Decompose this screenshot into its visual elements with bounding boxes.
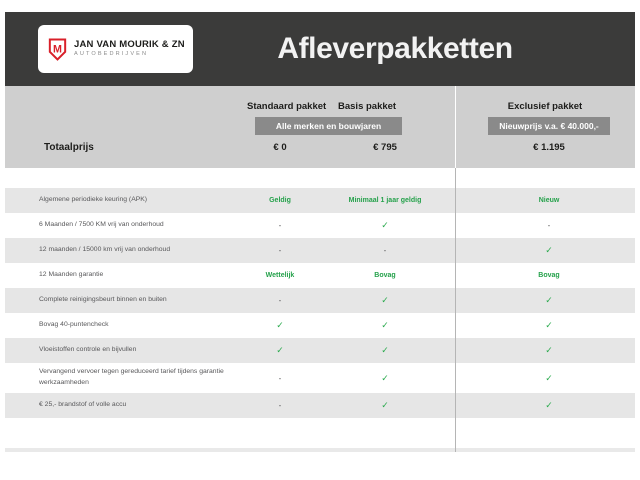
check-icon: ✓ (335, 373, 435, 384)
feature-value: Nieuw (488, 197, 610, 204)
check-icon: ✓ (240, 345, 320, 356)
total-price-label: Totaalprijs (44, 142, 94, 153)
table-row: Bovag 40-puntencheck✓✓✓ (5, 313, 635, 338)
not-included-dash: - (240, 401, 320, 410)
check-icon: ✓ (335, 320, 435, 331)
feature-label: 12 maanden / 15000 km vrij van onderhoud (39, 245, 239, 256)
feature-label: Algemene periodieke keuring (APK) (39, 195, 239, 206)
package-title-exclusief: Exclusief pakket (5, 101, 635, 112)
band-spacer (5, 168, 635, 188)
page-title: Afleverpakketten (5, 32, 635, 66)
table-row: Vloeistoffen controle en bijvullen✓✓✓ (5, 338, 635, 363)
feature-value: Bovag (335, 272, 435, 279)
page-footer-area (5, 418, 635, 452)
table-row: Algemene periodieke keuring (APK)GeldigM… (5, 188, 635, 213)
not-included-dash: - (240, 374, 320, 383)
feature-value: Geldig (240, 197, 320, 204)
feature-label: Vloeistoffen controle en bijvullen (39, 345, 239, 356)
table-row: Complete reinigingsbeurt binnen en buite… (5, 288, 635, 313)
check-icon: ✓ (335, 400, 435, 411)
table-group-divider (455, 188, 456, 418)
check-icon: ✓ (488, 245, 610, 256)
table-row: 12 maanden / 15000 km vrij van onderhoud… (5, 238, 635, 263)
spacer-divider (455, 168, 456, 188)
check-icon: ✓ (335, 295, 435, 306)
check-icon: ✓ (488, 320, 610, 331)
check-icon: ✓ (488, 373, 610, 384)
total-price-exclusief: € 1.195 (488, 142, 610, 153)
check-icon: ✓ (335, 345, 435, 356)
badge-nieuwprijs: Nieuwprijs v.a. € 40.000,- (488, 117, 610, 135)
feature-value: Minimaal 1 jaar geldig (335, 197, 435, 204)
badge-alle-merken-en-bouwjaren: Alle merken en bouwjaren (255, 117, 402, 135)
feature-value: Bovag (488, 272, 610, 279)
not-included-dash: - (335, 246, 435, 255)
check-icon: ✓ (240, 320, 320, 331)
table-row: 12 Maanden garantieWettelijkBovagBovag (5, 263, 635, 288)
page-header: M JAN VAN MOURIK & ZN AUTOBEDRIJVEN Afle… (5, 12, 635, 86)
delivery-packages-page: M JAN VAN MOURIK & ZN AUTOBEDRIJVEN Afle… (5, 12, 635, 468)
table-row: 6 Maanden / 7500 KM vrij van onderhoud-✓… (5, 213, 635, 238)
package-header-band: Standaard pakket Basis pakket Exclusief … (5, 86, 635, 168)
table-row: € 25,- brandstof of volle accu-✓✓ (5, 393, 635, 418)
not-included-dash: - (240, 296, 320, 305)
feature-label: Complete reinigingsbeurt binnen en buite… (39, 295, 239, 306)
check-icon: ✓ (488, 400, 610, 411)
feature-label: 6 Maanden / 7500 KM vrij van onderhoud (39, 220, 239, 231)
package-group-divider (455, 86, 456, 168)
feature-comparison-table: Algemene periodieke keuring (APK)GeldigM… (5, 188, 635, 418)
not-included-dash: - (240, 221, 320, 230)
not-included-dash: - (240, 246, 320, 255)
total-price-basis: € 795 (345, 142, 425, 153)
feature-label: 12 Maanden garantie (39, 270, 239, 281)
footer-divider (455, 418, 456, 452)
check-icon: ✓ (488, 345, 610, 356)
page-bottom-edge (5, 448, 635, 452)
feature-label: Vervangend vervoer tegen gereduceerd tar… (39, 367, 239, 388)
feature-value: Wettelijk (240, 272, 320, 279)
total-price-standaard: € 0 (240, 142, 320, 153)
check-icon: ✓ (335, 220, 435, 231)
not-included-dash: - (488, 221, 610, 230)
table-row: Vervangend vervoer tegen gereduceerd tar… (5, 363, 635, 393)
feature-label: Bovag 40-puntencheck (39, 320, 239, 331)
check-icon: ✓ (488, 295, 610, 306)
feature-label: € 25,- brandstof of volle accu (39, 400, 239, 411)
